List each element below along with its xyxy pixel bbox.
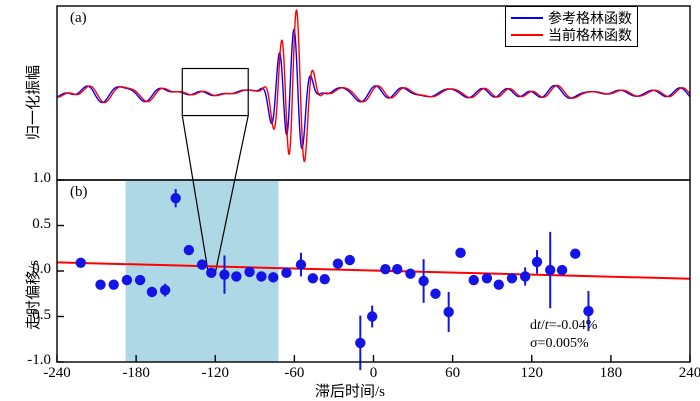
data-point	[345, 255, 355, 265]
data-point	[256, 271, 266, 281]
data-point	[482, 273, 492, 283]
data-point	[392, 264, 402, 274]
legend: 参考格林函数 当前格林函数	[505, 6, 638, 47]
data-point	[557, 265, 567, 275]
data-point	[296, 259, 306, 269]
data-point	[206, 268, 216, 278]
legend-item-current: 当前格林函数	[511, 26, 632, 43]
y-tick-label: 0.0	[1, 261, 51, 278]
x-tick-label: 180	[581, 365, 641, 382]
data-point	[95, 279, 105, 289]
data-point	[355, 338, 365, 348]
x-tick-label: -120	[185, 365, 245, 382]
annotation-dtdt: dt/t=-0.04%	[530, 318, 597, 334]
data-point	[170, 193, 180, 203]
figure-svg	[0, 0, 700, 401]
annotation-sigma: σ=0.005%	[530, 336, 589, 352]
y-tick-label: -0.5	[1, 307, 51, 324]
panel-b-id: (b)	[70, 184, 88, 201]
data-point	[76, 258, 86, 268]
data-point	[570, 249, 580, 259]
x-tick-label: 0	[344, 365, 404, 382]
data-point	[405, 269, 415, 279]
data-point	[320, 274, 330, 284]
data-point	[268, 272, 278, 282]
legend-item-reference: 参考格林函数	[511, 9, 632, 26]
legend-swatch-reference	[511, 17, 543, 19]
x-tick-label: 120	[502, 365, 562, 382]
legend-swatch-current	[511, 34, 543, 36]
panel-a-id: (a)	[70, 10, 87, 27]
data-point	[507, 273, 517, 283]
data-point	[308, 273, 318, 283]
x-tick-label: -60	[264, 365, 324, 382]
y-tick-label: -1.0	[1, 352, 51, 369]
data-point	[583, 306, 593, 316]
data-point	[160, 285, 170, 295]
data-point	[244, 267, 254, 277]
data-point	[184, 245, 194, 255]
data-point	[469, 275, 479, 285]
y-tick-label: 0.5	[1, 216, 51, 233]
figure-root: 归一化振幅 走时偏移/s 滞后时间/s (a) (b) 参考格林函数 当前格林函…	[0, 0, 700, 401]
data-point	[219, 269, 229, 279]
data-point	[281, 268, 291, 278]
shaded-band	[126, 181, 279, 362]
x-axis-label: 滞后时间/s	[0, 380, 700, 401]
data-point	[532, 257, 542, 267]
data-point	[494, 279, 504, 289]
data-point	[135, 275, 145, 285]
data-point	[231, 271, 241, 281]
panel-a-ylabel: 归一化振幅	[22, 65, 43, 140]
data-point	[122, 275, 132, 285]
x-tick-label: 240	[660, 365, 700, 382]
data-point	[147, 287, 157, 297]
data-point	[545, 265, 555, 275]
legend-label-current: 当前格林函数	[548, 25, 632, 45]
data-point	[520, 271, 530, 281]
data-point	[380, 264, 390, 274]
x-tick-label: -180	[106, 365, 166, 382]
data-point	[443, 307, 453, 317]
y-tick-label: 1.0	[1, 170, 51, 187]
data-point	[430, 289, 440, 299]
data-point	[197, 259, 207, 269]
data-point	[367, 311, 377, 321]
data-point	[455, 248, 465, 258]
data-point	[109, 279, 119, 289]
data-point	[418, 276, 428, 286]
data-point	[333, 259, 343, 269]
x-tick-label: 60	[423, 365, 483, 382]
